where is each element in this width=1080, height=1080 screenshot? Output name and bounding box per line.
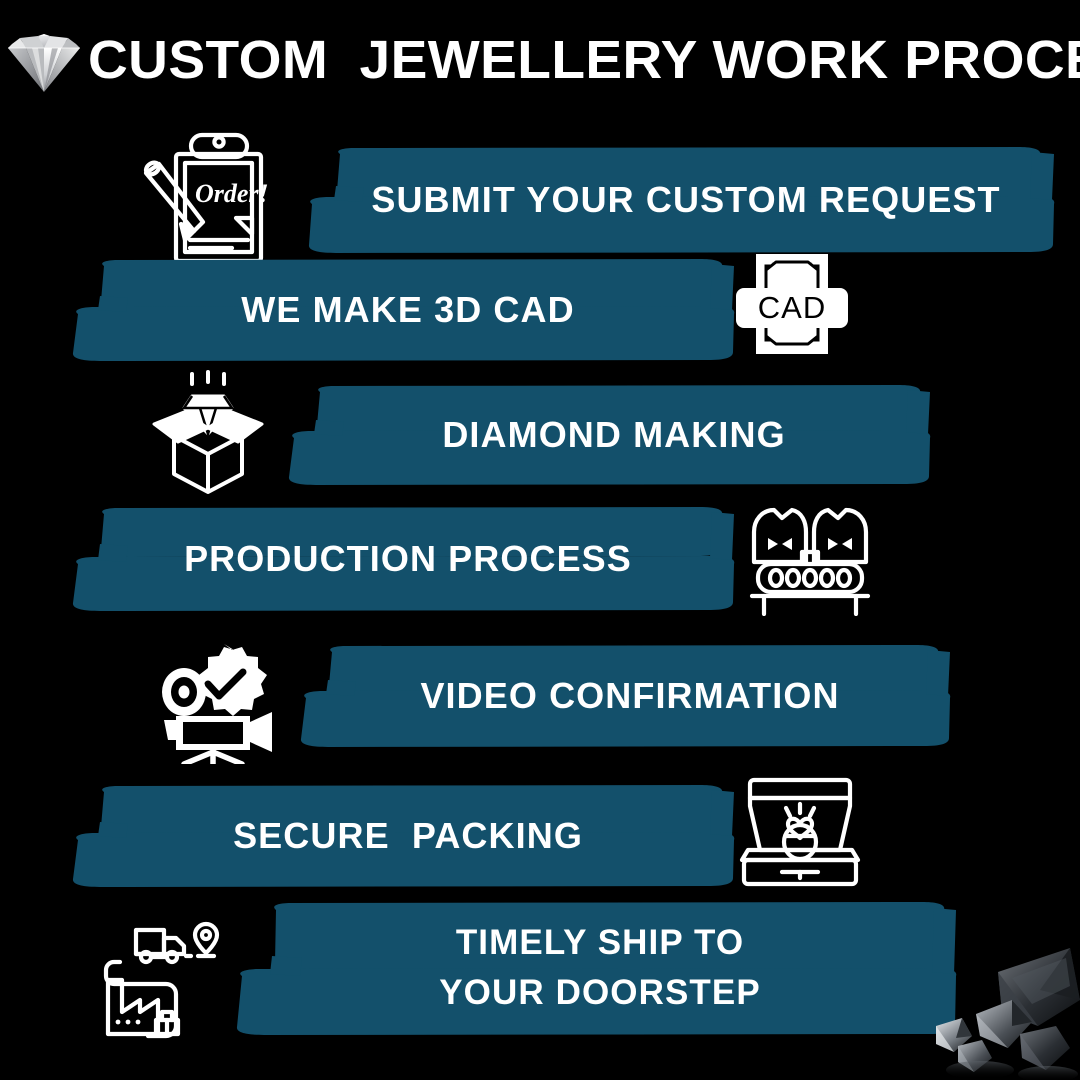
step-banner-4[interactable]: PRODUCTION PROCESS xyxy=(72,506,744,612)
step-row-4: PRODUCTION PROCESS xyxy=(0,500,1080,620)
cad-print-card-icon: CAD xyxy=(736,250,848,362)
video-camera-check-icon xyxy=(158,640,288,764)
step-banner-6[interactable]: SECURE PACKING xyxy=(72,784,744,888)
brush-stroke-shape xyxy=(300,644,960,748)
brush-stroke-shape xyxy=(288,384,940,486)
step-banner-1[interactable]: SUBMIT YOUR CUSTOM REQUEST xyxy=(306,146,1066,254)
brush-stroke-shape xyxy=(234,900,966,1036)
step-banner-2[interactable]: WE MAKE 3D CAD xyxy=(72,258,744,362)
clipboard-order-pencil-icon: Order! xyxy=(132,130,282,265)
brush-stroke-shape xyxy=(72,258,744,362)
infographic-canvas: CUSTOM JEWELLERY WORK PROCESS xyxy=(0,0,1080,1080)
page-title: CUSTOM JEWELLERY WORK PROCESS xyxy=(88,28,1080,92)
brush-stroke-shape xyxy=(72,784,744,888)
truck-factory-route-pin-icon xyxy=(98,912,228,1042)
order-text: Order! xyxy=(195,179,269,208)
step-row-2: CAD WE MAKE 3D CAD xyxy=(0,254,1080,364)
step-row-6: SECURE PACKING xyxy=(0,778,1080,894)
factory-machine-conveyor-icon xyxy=(748,504,872,616)
diamond-in-open-box-icon xyxy=(148,370,272,494)
step-row-1: Order! SUBMIT YOUR CUSTOM REQUEST xyxy=(0,140,1080,260)
step-row-5: VIDEO CONFIRMATION xyxy=(0,636,1080,766)
step-row-3: DIAMOND MAKING xyxy=(0,376,1080,496)
diamond-gem-icon xyxy=(2,26,86,98)
step-banner-7[interactable]: TIMELY SHIP TO YOUR DOORSTEP xyxy=(234,900,966,1036)
step-row-7: TIMELY SHIP TO YOUR DOORSTEP xyxy=(0,900,1080,1050)
step-banner-3[interactable]: DIAMOND MAKING xyxy=(288,384,940,486)
brush-stroke-shape xyxy=(306,146,1066,254)
cad-text: CAD xyxy=(758,290,826,325)
brush-stroke-shape xyxy=(72,506,744,612)
header: CUSTOM JEWELLERY WORK PROCESS xyxy=(0,0,1080,122)
ring-box-heart-icon xyxy=(738,776,862,888)
step-banner-5[interactable]: VIDEO CONFIRMATION xyxy=(300,644,960,748)
